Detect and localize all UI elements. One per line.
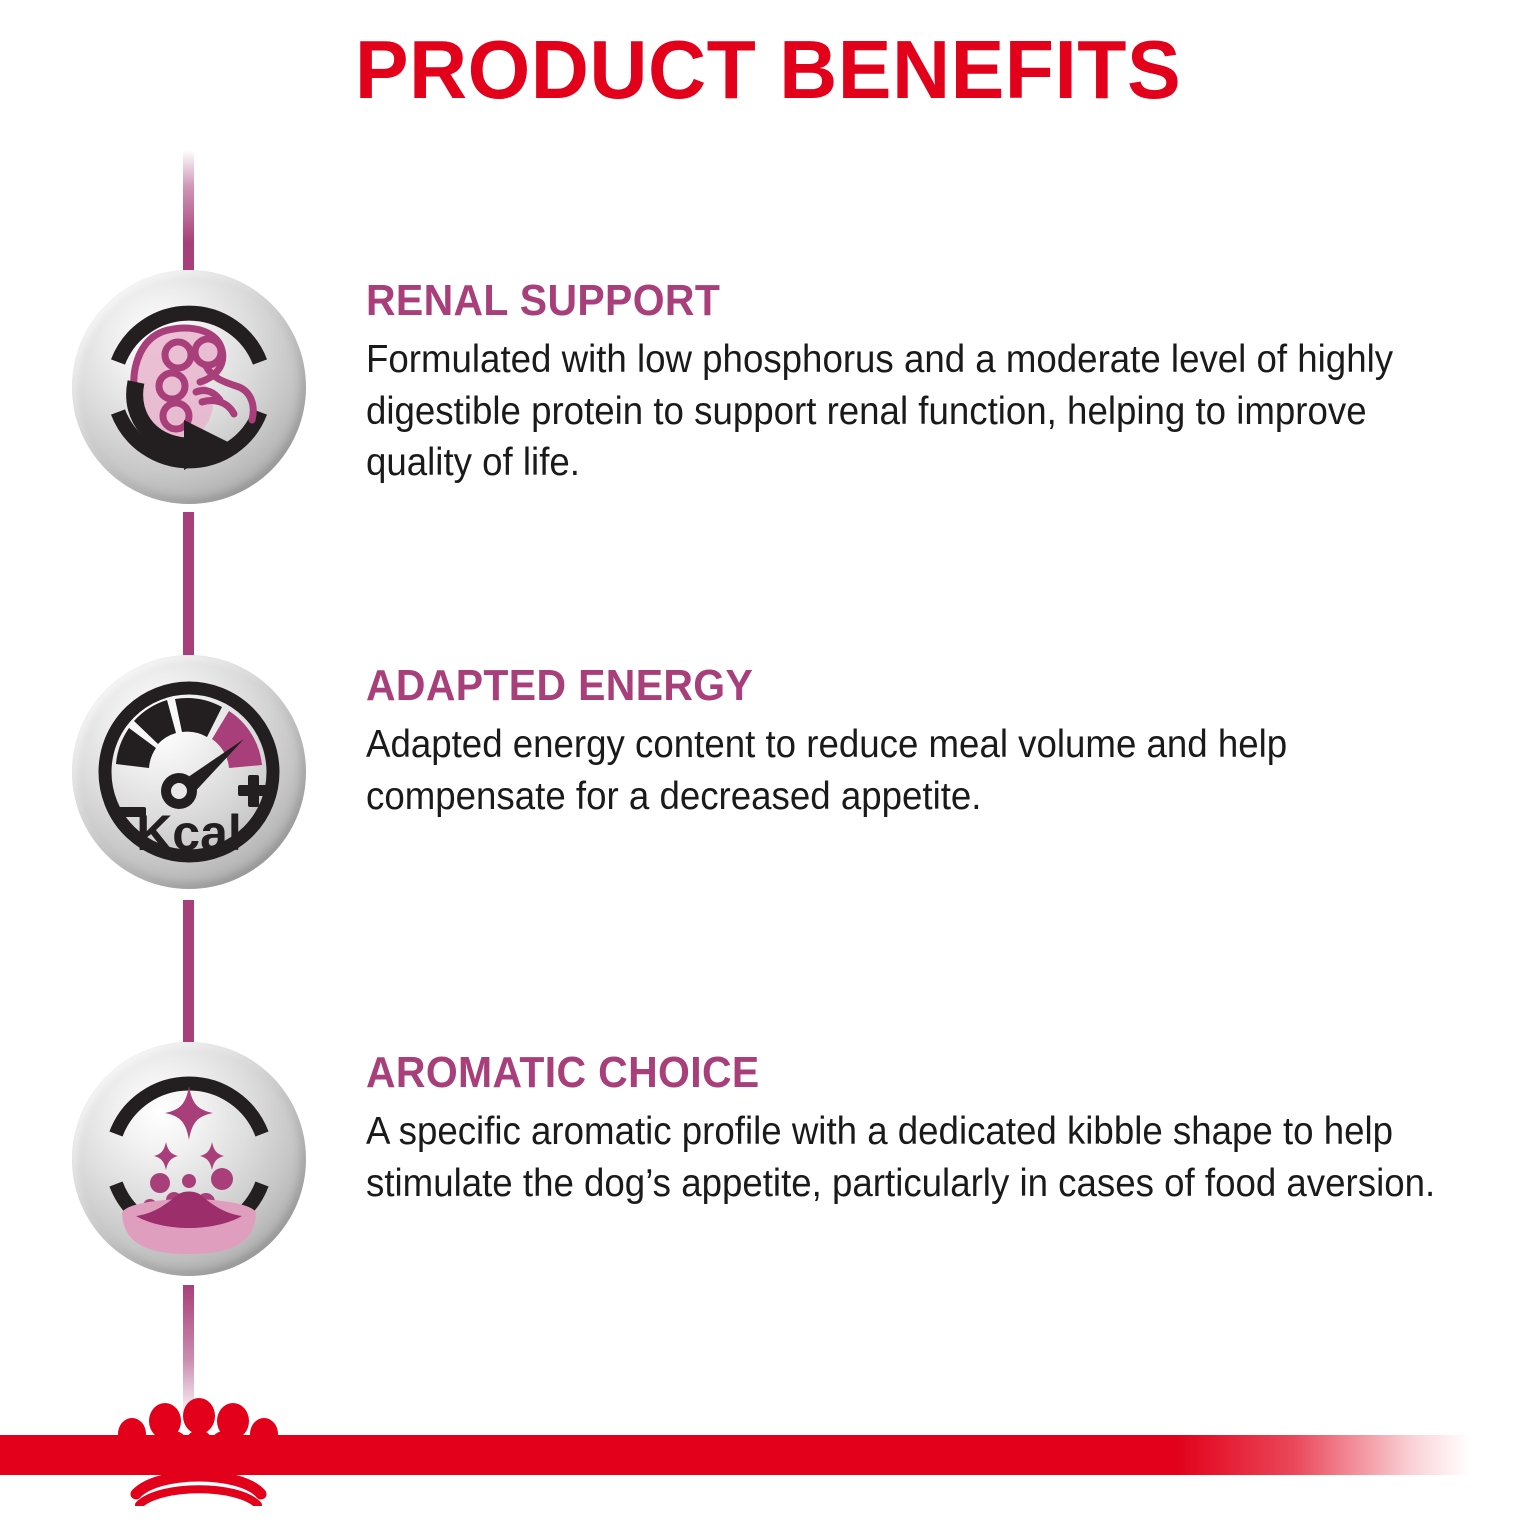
svg-text:Kcal: Kcal [136, 805, 242, 861]
benefit-heading: AROMATIC CHOICE [366, 1050, 1389, 1096]
benefit-body: Adapted energy content to reduce meal vo… [366, 719, 1475, 822]
page-title: PRODUCT BENEFITS [23, 28, 1513, 111]
timeline-segment-2 [183, 900, 194, 1042]
benefit-text-block: ADAPTED ENERGY Adapted energy content to… [366, 663, 1466, 822]
kcal-gauge-icon: Kcal [72, 655, 306, 889]
renal-kidney-icon [72, 270, 306, 504]
benefit-heading: RENAL SUPPORT [366, 278, 1389, 324]
product-benefits-page: PRODUCT BENEFITS [0, 0, 1536, 1536]
benefit-heading: ADAPTED ENERGY [366, 663, 1389, 709]
benefit-item-adapted-energy: Kcal ADAPTED ENERGY Adapted energy conte… [0, 655, 1536, 895]
timeline-segment-top [183, 150, 194, 282]
benefit-item-renal-support: RENAL SUPPORT Formulated with low phosph… [0, 270, 1536, 510]
benefit-item-aromatic-choice: AROMATIC CHOICE A specific aromatic prof… [0, 1042, 1536, 1282]
benefit-text-block: AROMATIC CHOICE A specific aromatic prof… [366, 1050, 1466, 1209]
benefit-text-block: RENAL SUPPORT Formulated with low phosph… [366, 278, 1466, 489]
royal-canin-crown-logo [112, 1386, 282, 1506]
aromatic-bowl-icon [72, 1042, 306, 1276]
benefit-body: Formulated with low phosphorus and a mod… [366, 334, 1475, 488]
footer [0, 1386, 1536, 1536]
benefit-body: A specific aromatic profile with a dedic… [366, 1106, 1475, 1209]
timeline-segment-1 [183, 512, 194, 656]
